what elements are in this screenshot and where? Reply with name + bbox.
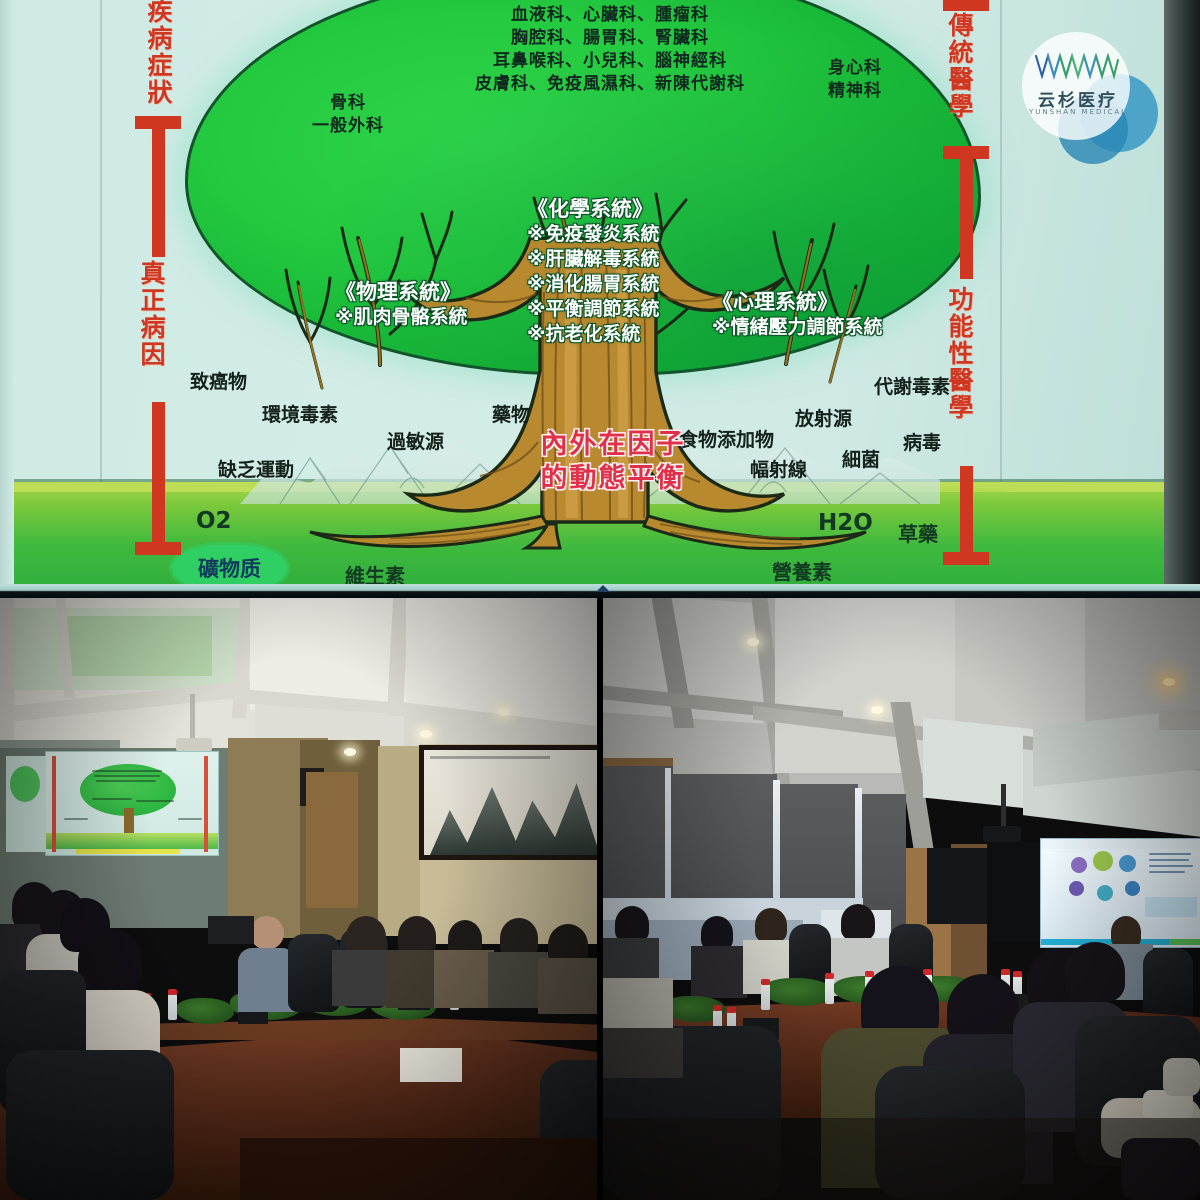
factor-env-toxin: 環境毒素 (262, 400, 338, 427)
system-chemical-item-4: ※平衡調節系統 (527, 297, 659, 322)
factor-bacteria: 細菌 (842, 445, 880, 472)
branch-left-line-1: 骨科 (288, 92, 408, 115)
wall-painting (419, 745, 597, 860)
dept-line-4: 皮膚科、免疫風濕科、新陳代謝科 (440, 73, 780, 96)
branch-label-right: 身心科 精神科 (810, 57, 900, 103)
factor-radiation-ray: 幅射線 (750, 455, 807, 482)
center-red-line-2: 的動態平衡 (518, 462, 708, 496)
dept-line-2: 胸腔科、腸胃科、腎臟科 (440, 27, 780, 50)
system-chemical-item-3: ※消化腸胃系統 (527, 272, 659, 297)
photo-left (0, 598, 597, 1200)
logo-wave-icon (1034, 50, 1120, 80)
slide-left-edge (0, 0, 14, 592)
right-axis-top-label: 傳統醫學 (944, 12, 974, 120)
left-up-arrow (135, 402, 181, 555)
factor-carcinogen: 致癌物 (190, 367, 247, 394)
right-up-arrow (943, 466, 989, 565)
right-axis-column: 傳統醫學 功能性醫學 (934, 0, 998, 584)
center-red-line-1: 內外在因子 (518, 428, 708, 462)
divider-marker (596, 585, 610, 592)
branch-right-line-2: 精神科 (810, 80, 900, 103)
logo: 云杉医疗 YUNSHAN MEDICAL (1016, 28, 1162, 156)
system-physical-item-1: ※肌肉骨骼系統 (335, 305, 467, 330)
factor-allergen: 過敏源 (387, 427, 444, 454)
dept-line-1: 血液科、心臟科、腫瘤科 (440, 4, 780, 27)
left-axis-top-label: 疾病症狀 (143, 0, 173, 106)
system-chemical-item-2: ※肝臟解毒系統 (527, 247, 659, 272)
left-axis-column: 疾病症狀 真正病因 (126, 0, 190, 584)
system-chemical-item-1: ※免疫發炎系統 (527, 222, 659, 247)
system-psychological-item-1: ※情緒壓力調節系統 (712, 315, 882, 340)
branch-left-line-2: 一般外科 (288, 115, 408, 138)
system-psychological-title: 《心理系統》 (712, 290, 882, 315)
logo-name-en: YUNSHAN MEDICAL (1026, 108, 1130, 116)
system-chemical: 《化學系統》 ※免疫發炎系統 ※肝臟解毒系統 ※消化腸胃系統 ※平衡調節系統 ※… (527, 197, 659, 347)
screenshot-root: 血液科、心臟科、腫瘤科 胸腔科、腸胃科、腎臟科 耳鼻喉科、小兒科、腦神經科 皮膚… (0, 0, 1200, 1200)
canopy-departments: 血液科、心臟科、腫瘤科 胸腔科、腸胃科、腎臟科 耳鼻喉科、小兒科、腦神經科 皮膚… (440, 4, 780, 96)
left-axis-bottom-label: 真正病因 (136, 260, 166, 368)
system-chemical-title: 《化學系統》 (527, 197, 659, 222)
ground-nutrient: 營養素 (772, 556, 832, 585)
projection-screen-left (45, 751, 219, 856)
dept-line-3: 耳鼻喉科、小兒科、腦神經科 (440, 50, 780, 73)
branch-label-left: 骨科 一般外科 (288, 92, 408, 138)
system-chemical-item-5: ※抗老化系統 (527, 322, 659, 347)
system-physical: 《物理系統》 ※肌肉骨骼系統 (335, 280, 467, 330)
ground-h2o: H2O (818, 510, 873, 536)
projected-slide: 血液科、心臟科、腫瘤科 胸腔科、腸胃科、腎臟科 耳鼻喉科、小兒科、腦神經科 皮膚… (0, 0, 1200, 592)
photo-right (603, 598, 1200, 1200)
right-down-arrow (943, 146, 989, 279)
left-down-arrow (135, 116, 181, 257)
factor-drugs: 藥物 (492, 400, 530, 427)
right-top-cap (943, 0, 989, 11)
factor-lack-exercise: 缺乏運動 (218, 455, 294, 482)
panel-divider (0, 584, 1200, 598)
system-physical-title: 《物理系統》 (335, 280, 467, 305)
system-psychological: 《心理系統》 ※情緒壓力調節系統 (712, 290, 882, 340)
ground-o2: O2 (196, 508, 232, 534)
right-axis-bottom-label: 功能性醫學 (944, 286, 974, 421)
center-balance-text: 內外在因子 的動態平衡 (518, 428, 708, 496)
wall-dark-gutter (1164, 0, 1200, 592)
branch-right-line-1: 身心科 (810, 57, 900, 80)
factor-radiation-source: 放射源 (795, 404, 852, 431)
ground-herb: 草藥 (898, 518, 938, 547)
